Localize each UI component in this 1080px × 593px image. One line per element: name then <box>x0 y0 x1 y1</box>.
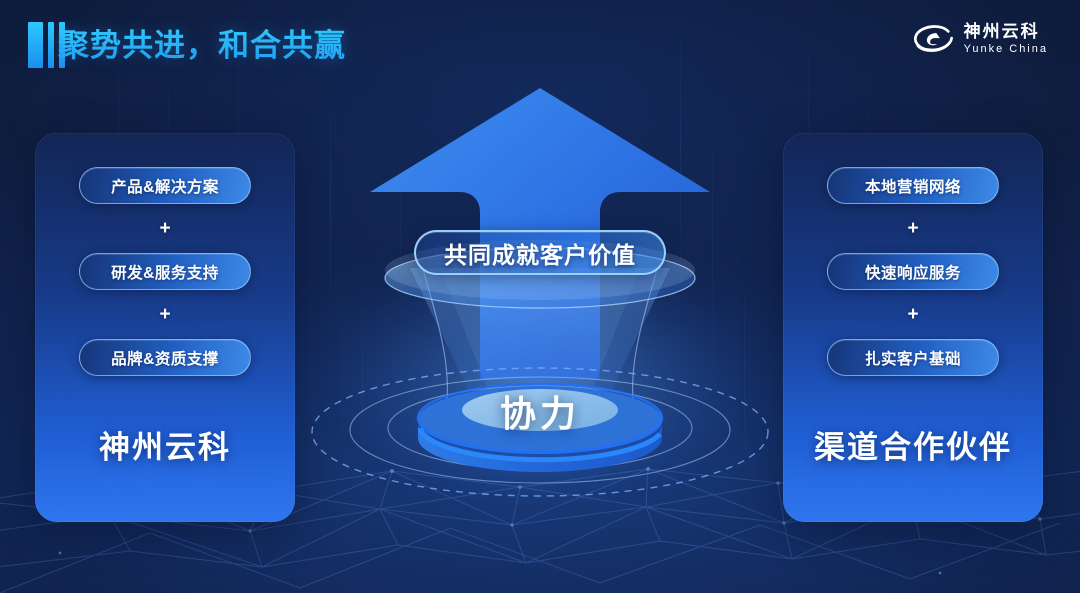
center-pill[interactable]: 共同成就客户价值 <box>414 230 666 275</box>
brand-logo: 神州云科 Yunke China <box>911 22 1048 56</box>
right-chip-1[interactable]: 本地营销网络 <box>827 167 999 204</box>
right-panel: 本地营销网络 + 快速响应服务 + 扎实客户基础 渠道合作伙伴 <box>783 133 1043 522</box>
right-plus-1: + <box>907 219 918 238</box>
center-stage: 共同成就客户价值 协力 <box>290 80 790 530</box>
left-plus-1: + <box>159 219 170 238</box>
logo-name-cn: 神州云科 <box>964 23 1048 40</box>
page-title: 聚势共进，和合共赢 <box>58 20 346 65</box>
left-chip-2[interactable]: 研发&服务支持 <box>79 253 251 290</box>
left-chip-3[interactable]: 品牌&资质支撑 <box>79 339 251 376</box>
center-keyword: 协力 <box>290 385 790 437</box>
swirl-galaxy-icon <box>911 22 955 56</box>
right-panel-title: 渠道合作伙伴 <box>814 422 1012 467</box>
slide-canvas: 聚势共进，和合共赢 神州云科 Yunke China 产品&解决方案 + 研发&… <box>0 0 1080 593</box>
right-chip-3[interactable]: 扎实客户基础 <box>827 339 999 376</box>
left-panel-title: 神州云科 <box>99 422 231 467</box>
left-plus-2: + <box>159 305 170 324</box>
left-panel: 产品&解决方案 + 研发&服务支持 + 品牌&资质支撑 神州云科 <box>35 133 295 522</box>
left-chip-1[interactable]: 产品&解决方案 <box>79 167 251 204</box>
center-graphic <box>290 80 790 530</box>
slide-header: 聚势共进，和合共赢 神州云科 Yunke China <box>0 0 1080 90</box>
logo-name-en: Yunke China <box>964 44 1048 55</box>
right-plus-2: + <box>907 305 918 324</box>
right-chip-2[interactable]: 快速响应服务 <box>827 253 999 290</box>
